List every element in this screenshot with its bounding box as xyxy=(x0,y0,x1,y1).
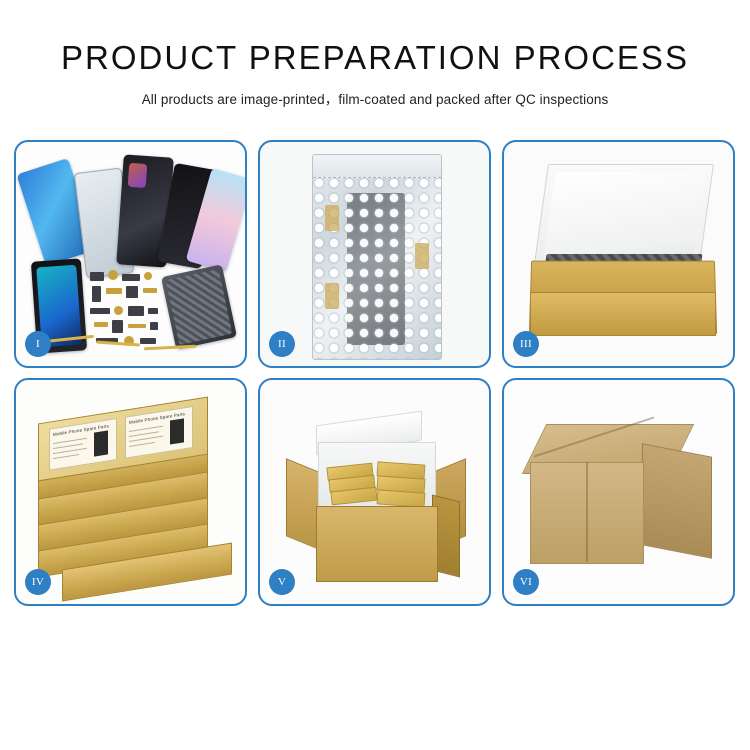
photo-stacked-labeled-boxes: Mobile Phone Spare Parts Mobile Phone Sp… xyxy=(16,380,245,604)
photo-phones-and-parts xyxy=(16,142,245,366)
step-card-4: Mobile Phone Spare Parts Mobile Phone Sp… xyxy=(14,378,247,606)
bag-seal xyxy=(313,155,441,178)
tape-strip xyxy=(325,283,339,309)
tape-strip xyxy=(325,205,339,231)
spare-parts-cluster xyxy=(88,268,164,352)
label-thumbnail xyxy=(94,430,108,456)
photo-bubble-wrapped-screen xyxy=(260,142,489,366)
tape-strip xyxy=(415,243,429,269)
photo-sealed-carton xyxy=(504,380,733,604)
step-card-5: V xyxy=(258,378,491,606)
step-badge-3: III xyxy=(513,331,539,357)
photo-open-carton-with-foam-cooler xyxy=(260,380,489,604)
step-card-1: I xyxy=(14,140,247,368)
step-card-3: III xyxy=(502,140,735,368)
step-badge-2: II xyxy=(269,331,295,357)
product-label: Mobile Phone Spare Parts xyxy=(125,406,193,459)
foam-cooler-body xyxy=(318,442,436,510)
label-thumbnail xyxy=(170,418,184,444)
steps-grid: I II xyxy=(14,140,736,606)
step-card-2: II xyxy=(258,140,491,368)
step-badge-1: I xyxy=(25,331,51,357)
carton-front xyxy=(316,506,438,582)
carton-seam xyxy=(586,462,588,562)
phone-back-open xyxy=(161,264,237,349)
kraft-box-front xyxy=(530,292,716,336)
product-label: Mobile Phone Spare Parts xyxy=(49,418,117,471)
step-badge-6: VI xyxy=(513,569,539,595)
photo-foam-in-kraft-box xyxy=(504,142,733,366)
step-badge-5: V xyxy=(269,569,295,595)
poster-page: PRODUCT PREPARATION PROCESS All products… xyxy=(0,0,750,750)
bubble-bag xyxy=(312,154,442,360)
page-subtitle: All products are image-printed，film-coat… xyxy=(0,88,750,108)
step-card-6: VI xyxy=(502,378,735,606)
carton-right-face xyxy=(642,443,712,559)
page-header: PRODUCT PREPARATION PROCESS All products… xyxy=(0,0,750,108)
step-badge-4: IV xyxy=(25,569,51,595)
page-title: PRODUCT PREPARATION PROCESS xyxy=(0,40,750,76)
